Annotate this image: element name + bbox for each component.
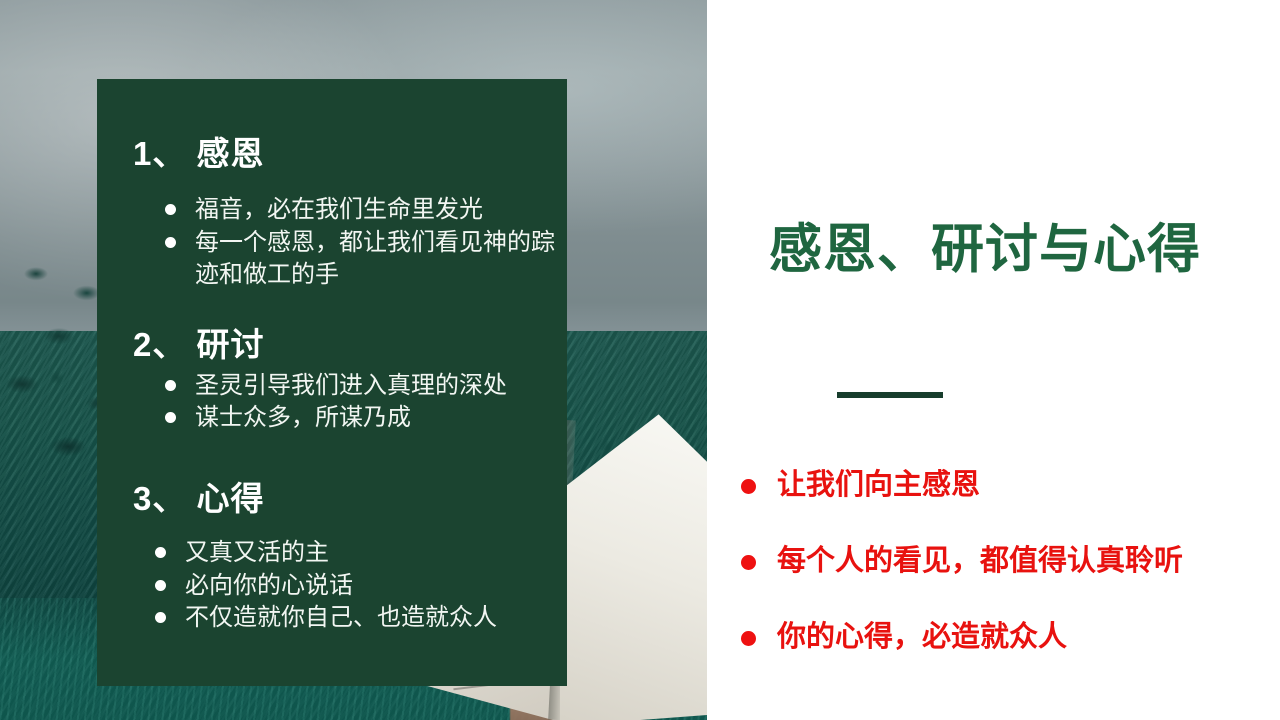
bullet-dot-icon <box>165 204 176 215</box>
list-item: 必向你的心说话 <box>155 570 557 602</box>
section-1-bullets: 福音，必在我们生命里发光 每一个感恩，都让我们看见神的踪迹和做工的手 <box>97 194 567 290</box>
section-3: 3、 心得 又真又活的主 必向你的心说话 不仅造就你自己、也造就众人 <box>97 478 567 634</box>
page-title: 感恩、研讨与心得 <box>769 216 1239 285</box>
list-item-label: 你的心得，必造就众人 <box>777 621 1067 653</box>
bullet-dot-icon <box>741 555 756 570</box>
list-item-label: 每一个感恩，都让我们看见神的踪迹和做工的手 <box>195 229 555 288</box>
section-2-bullets: 圣灵引导我们进入真理的深处 谋士众多，所谋乃成 <box>97 370 567 434</box>
section-1: 1、 感恩 福音，必在我们生命里发光 每一个感恩，都让我们看见神的踪迹和做工的手 <box>97 133 567 290</box>
book-page-right <box>560 408 707 720</box>
list-item: 每一个感恩，都让我们看见神的踪迹和做工的手 <box>165 227 557 290</box>
section-1-title: 1、 感恩 <box>97 133 567 174</box>
list-item-label: 福音，必在我们生命里发光 <box>195 196 483 223</box>
list-item: 圣灵引导我们进入真理的深处 <box>165 370 557 402</box>
bullet-dot-icon <box>165 237 176 248</box>
section-3-title: 3、 心得 <box>97 478 567 519</box>
list-item-label: 又真又活的主 <box>185 539 329 566</box>
list-item-label: 让我们向主感恩 <box>777 469 980 501</box>
list-item-label: 谋士众多，所谋乃成 <box>195 404 411 431</box>
list-item-label: 不仅造就你自己、也造就众人 <box>185 604 497 631</box>
list-item: 让我们向主感恩 <box>729 468 1279 503</box>
list-item: 你的心得，必造就众人 <box>729 620 1279 655</box>
title-underline-rule <box>837 392 943 398</box>
list-item-label: 每个人的看见，都值得认真聆听 <box>777 545 1183 577</box>
key-points-list: 让我们向主感恩 每个人的看见，都值得认真聆听 你的心得，必造就众人 <box>729 468 1279 695</box>
bullet-dot-icon <box>741 479 756 494</box>
list-item: 福音，必在我们生命里发光 <box>165 194 557 226</box>
bullet-dot-icon <box>155 612 166 623</box>
bullet-dot-icon <box>741 631 756 646</box>
list-item: 每个人的看见，都值得认真聆听 <box>729 544 1279 579</box>
section-2-title: 2、 研讨 <box>97 324 567 365</box>
bullet-dot-icon <box>155 580 166 591</box>
green-content-panel: 1、 感恩 福音，必在我们生命里发光 每一个感恩，都让我们看见神的踪迹和做工的手… <box>97 79 567 686</box>
list-item: 不仅造就你自己、也造就众人 <box>155 602 557 634</box>
slide: 1、 感恩 福音，必在我们生命里发光 每一个感恩，都让我们看见神的踪迹和做工的手… <box>0 0 1280 720</box>
list-item: 谋士众多，所谋乃成 <box>165 402 557 434</box>
bullet-dot-icon <box>165 380 176 391</box>
list-item-label: 圣灵引导我们进入真理的深处 <box>195 372 507 399</box>
right-column: 感恩、研讨与心得 让我们向主感恩 每个人的看见，都值得认真聆听 你的心得，必造就… <box>707 0 1280 720</box>
section-2: 2、 研讨 圣灵引导我们进入真理的深处 谋士众多，所谋乃成 <box>97 324 567 434</box>
list-item-label: 必向你的心说话 <box>185 572 353 599</box>
bullet-dot-icon <box>155 547 166 558</box>
bullet-dot-icon <box>165 412 176 423</box>
section-3-bullets: 又真又活的主 必向你的心说话 不仅造就你自己、也造就众人 <box>97 537 567 634</box>
list-item: 又真又活的主 <box>155 537 557 569</box>
